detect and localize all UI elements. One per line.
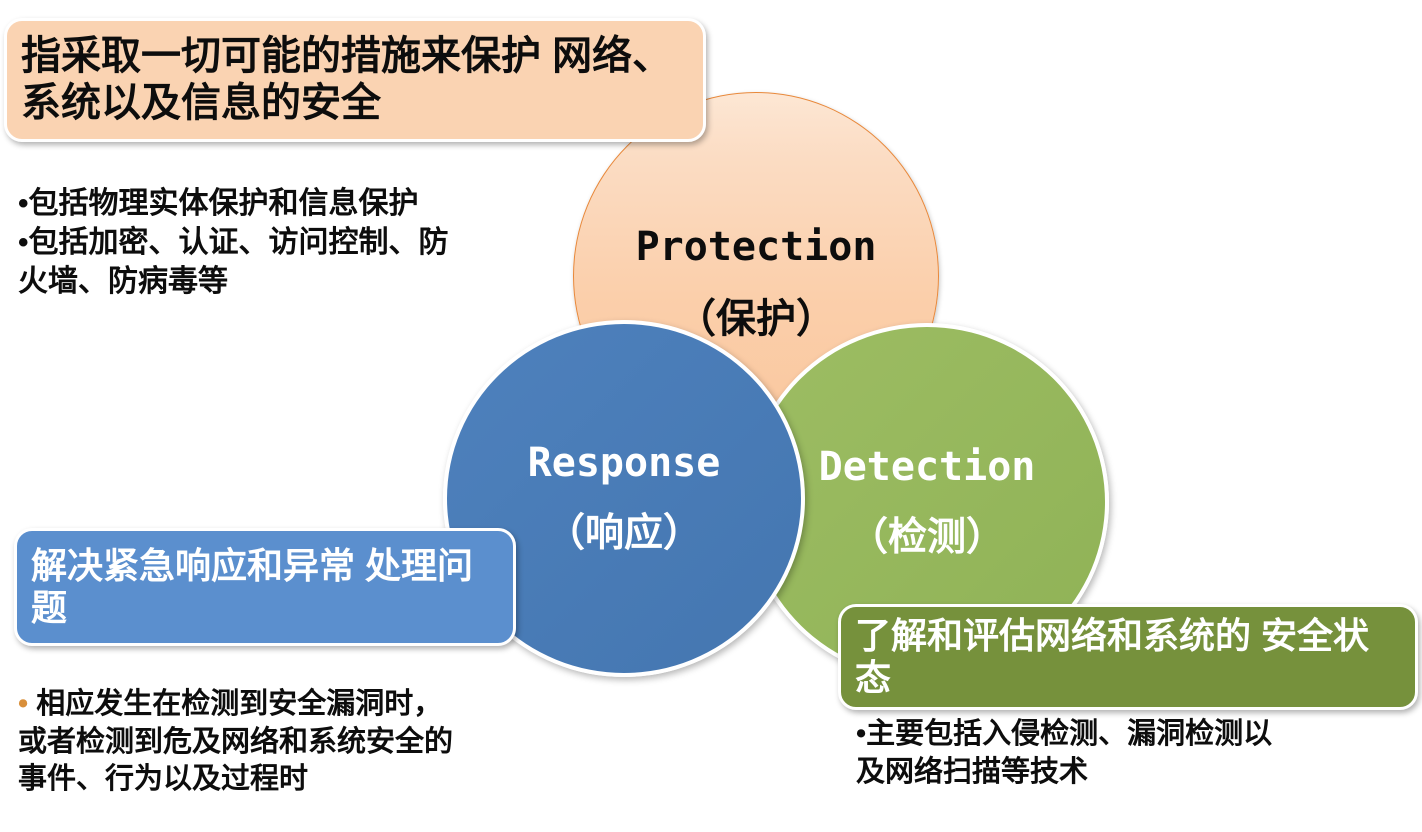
bullet-response-1-continued-a: 或者检测到危及网络和系统安全的 (18, 724, 658, 762)
circle-detection-label-en: Detection (819, 444, 1036, 490)
callout-detection[interactable]: 了解和评估网络和系统的 安全状态 (838, 604, 1418, 710)
circle-protection-label-en: Protection (596, 220, 916, 274)
bullet-protection-1: •包括物理实体保护和信息保护 (18, 184, 578, 223)
callout-protection[interactable]: 指采取一切可能的措施来保护 网络、系统以及信息的安全 (4, 18, 706, 142)
circle-response-label-cn: （响应） (546, 512, 702, 557)
circle-response-label-en: Response (528, 440, 721, 486)
bullet-list-response: • 相应发生在检测到安全漏洞时， 或者检测到危及网络和系统安全的 事件、行为以及… (18, 686, 658, 799)
bullet-detection-1-continued: 及网络扫描等技术 (856, 754, 1416, 792)
bullet-response-1: • 相应发生在检测到安全漏洞时， (18, 686, 658, 724)
bullet-list-protection: •包括物理实体保护和信息保护 •包括加密、认证、访问控制、防 火墙、防病毒等 (18, 184, 578, 301)
slide-canvas: Protection （保护） Detection （检测） Response … (0, 0, 1422, 832)
bullet-protection-2-continued: 火墙、防病毒等 (18, 262, 578, 301)
callout-protection-line1: 指采取一切可能的措施来保护 (21, 34, 541, 78)
bullet-detection-1: •主要包括入侵检测、漏洞检测以 (856, 716, 1416, 754)
bullet-response-1-continued-b: 事件、行为以及过程时 (18, 761, 658, 799)
callout-response-line1: 解决紧急响应和异常 (31, 545, 355, 586)
bullet-protection-2: •包括加密、认证、访问控制、防 (18, 223, 578, 262)
circle-detection-label-cn: （检测） (849, 516, 1005, 561)
bullet-response-1-text: 相应发生在检测到安全漏洞时， (28, 688, 442, 720)
bullet-list-detection: •主要包括入侵检测、漏洞检测以 及网络扫描等技术 (856, 716, 1416, 791)
callout-detection-line1: 了解和评估网络和系统的 (855, 615, 1251, 656)
callout-response[interactable]: 解决紧急响应和异常 处理问题 (14, 528, 516, 646)
circle-protection-label-cn: （保护） (676, 296, 836, 342)
bullet-marker-icon: • (18, 688, 28, 720)
